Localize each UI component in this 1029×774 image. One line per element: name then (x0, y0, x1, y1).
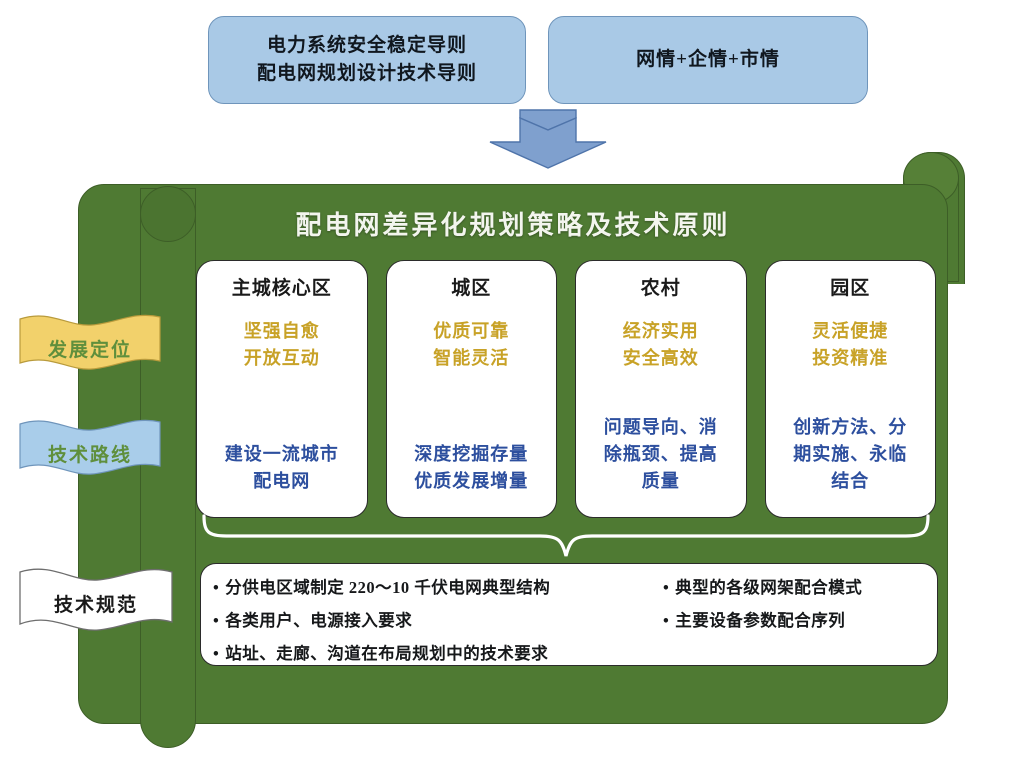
card-route-line: 结合 (793, 468, 907, 495)
card-route-line: 质量 (604, 468, 718, 495)
strategy-card-park[interactable]: 园区 灵活便捷 投资精准 创新方法、分 期实施、永临 结合 (765, 260, 937, 518)
curly-brace-down-icon (196, 512, 936, 560)
source-box-standards: 电力系统安全稳定导则 配电网规划设计技术导则 (208, 16, 526, 104)
card-route: 建设一流城市 配电网 (225, 441, 339, 495)
card-title: 主城核心区 (232, 273, 332, 300)
spec-item: 分供电区域制定 220～10 千伏电网典型结构 (213, 574, 663, 598)
card-route: 深度挖掘存量 优质发展增量 (414, 441, 528, 495)
source-box-standards-line-1: 电力系统安全稳定导则 (267, 32, 467, 61)
card-positioning-line: 智能灵活 (433, 345, 509, 372)
strategy-card-rural[interactable]: 农村 经济实用 安全高效 问题导向、消 除瓶颈、提高 质量 (575, 260, 747, 518)
ribbon-development-positioning[interactable]: 发展定位 (16, 311, 164, 381)
strategy-card-urban[interactable]: 城区 优质可靠 智能灵活 深度挖掘存量 优质发展增量 (386, 260, 558, 518)
card-route: 问题导向、消 除瓶颈、提高 质量 (604, 414, 718, 495)
ribbon-technical-route[interactable]: 技术路线 (16, 414, 164, 484)
down-arrow-icon (487, 108, 609, 170)
spec-column-left: 分供电区域制定 220～10 千伏电网典型结构 各类用户、电源接入要求 站址、走… (213, 574, 663, 661)
ribbon-technical-standard[interactable]: 技术规范 (16, 562, 176, 642)
card-route-line: 优质发展增量 (414, 468, 528, 495)
card-positioning: 灵活便捷 投资精准 (812, 318, 888, 372)
strategy-card-list: 主城核心区 坚强自愈 开放互动 建设一流城市 配电网 城区 优质可靠 智能灵活 … (196, 260, 936, 518)
card-route-line: 问题导向、消 (604, 414, 718, 441)
card-positioning-line: 优质可靠 (433, 318, 509, 345)
source-box-context: 网情+企情+市情 (548, 16, 868, 104)
card-positioning: 坚强自愈 开放互动 (244, 318, 320, 372)
spec-item: 典型的各级网架配合模式 (663, 574, 923, 598)
card-positioning: 优质可靠 智能灵活 (433, 318, 509, 372)
card-title: 城区 (451, 273, 491, 300)
card-title: 园区 (830, 273, 870, 300)
card-route-line: 深度挖掘存量 (414, 441, 528, 468)
source-box-standards-line-2: 配电网规划设计技术导则 (257, 60, 477, 89)
card-positioning-line: 安全高效 (623, 345, 699, 372)
strategy-card-core-city[interactable]: 主城核心区 坚强自愈 开放互动 建设一流城市 配电网 (196, 260, 368, 518)
card-positioning-line: 经济实用 (623, 318, 699, 345)
technical-spec-panel: 分供电区域制定 220～10 千伏电网典型结构 各类用户、电源接入要求 站址、走… (200, 563, 938, 666)
spec-item: 站址、走廊、沟道在布局规划中的技术要求 (213, 640, 663, 664)
card-route-line: 期实施、永临 (793, 441, 907, 468)
card-positioning: 经济实用 安全高效 (623, 318, 699, 372)
card-route-line: 创新方法、分 (793, 414, 907, 441)
card-route: 创新方法、分 期实施、永临 结合 (793, 414, 907, 495)
card-route-line: 建设一流城市 (225, 441, 339, 468)
ribbon-label: 技术路线 (16, 440, 164, 467)
card-positioning-line: 投资精准 (812, 345, 888, 372)
card-title: 农村 (641, 273, 681, 300)
card-positioning-line: 灵活便捷 (812, 318, 888, 345)
card-route-line: 配电网 (225, 468, 339, 495)
card-positioning-line: 开放互动 (244, 345, 320, 372)
card-route-line: 除瓶颈、提高 (604, 441, 718, 468)
spec-item: 主要设备参数配合序列 (663, 607, 923, 631)
spec-item: 各类用户、电源接入要求 (213, 607, 663, 631)
diagram-canvas: 电力系统安全稳定导则 配电网规划设计技术导则 网情+企情+市情 配电网差异化规划… (0, 0, 1029, 774)
source-box-context-line-1: 网情+企情+市情 (636, 46, 780, 75)
card-positioning-line: 坚强自愈 (244, 318, 320, 345)
ribbon-label: 技术规范 (16, 590, 176, 617)
spec-column-right: 典型的各级网架配合模式 主要设备参数配合序列 (663, 574, 923, 661)
page-title: 配电网差异化规划策略及技术原则 (78, 205, 948, 242)
ribbon-label: 发展定位 (16, 335, 164, 362)
